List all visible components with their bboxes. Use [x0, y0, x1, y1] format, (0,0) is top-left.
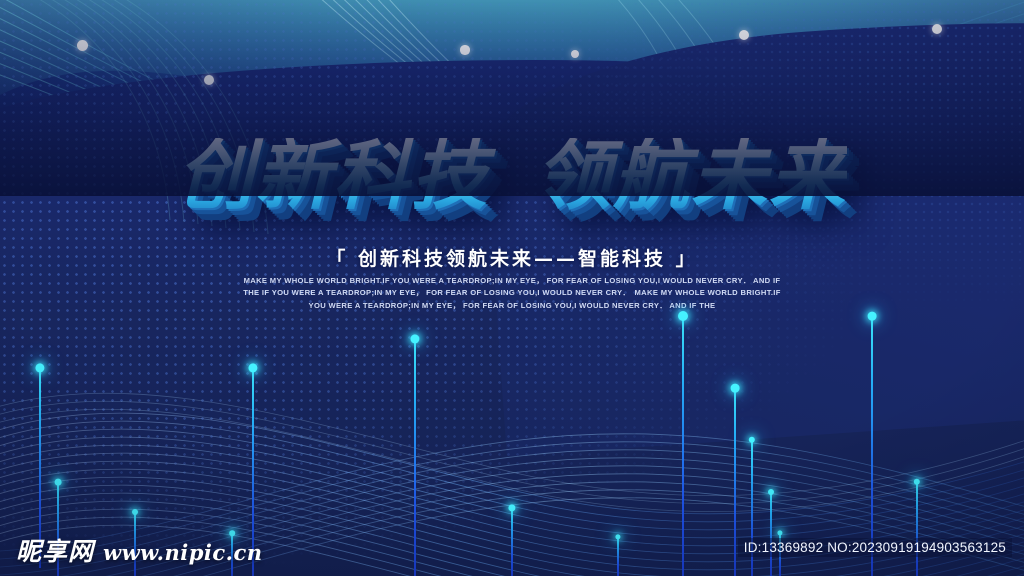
image-id-label: ID:13369892 NO:20230919194903563125 — [738, 538, 1012, 557]
poster-canvas: 创新科技领航未来 「 创新科技领航未来——智能科技 」 MAKE MY WHOL… — [0, 0, 1024, 576]
white-dot — [571, 50, 579, 58]
english-paragraph: MAKE MY WHOLE WORLD BRIGHT.IF YOU WERE A… — [242, 275, 782, 312]
white-dot — [77, 40, 88, 51]
watermark-url-text: www.nipic.cn — [103, 540, 263, 565]
watermark-logo-text: 昵享网 — [16, 532, 94, 568]
main-title-right: 领航未来 — [535, 131, 847, 220]
white-dot — [460, 45, 469, 54]
subtitle: 「 创新科技领航未来——智能科技 」 — [0, 244, 1024, 271]
title-block: 创新科技领航未来 — [0, 138, 1024, 214]
main-title-left: 创新科技 — [177, 131, 489, 220]
main-title: 创新科技领航未来 — [177, 138, 847, 214]
watermark: 昵享网 www.nipic.cn — [16, 532, 263, 568]
